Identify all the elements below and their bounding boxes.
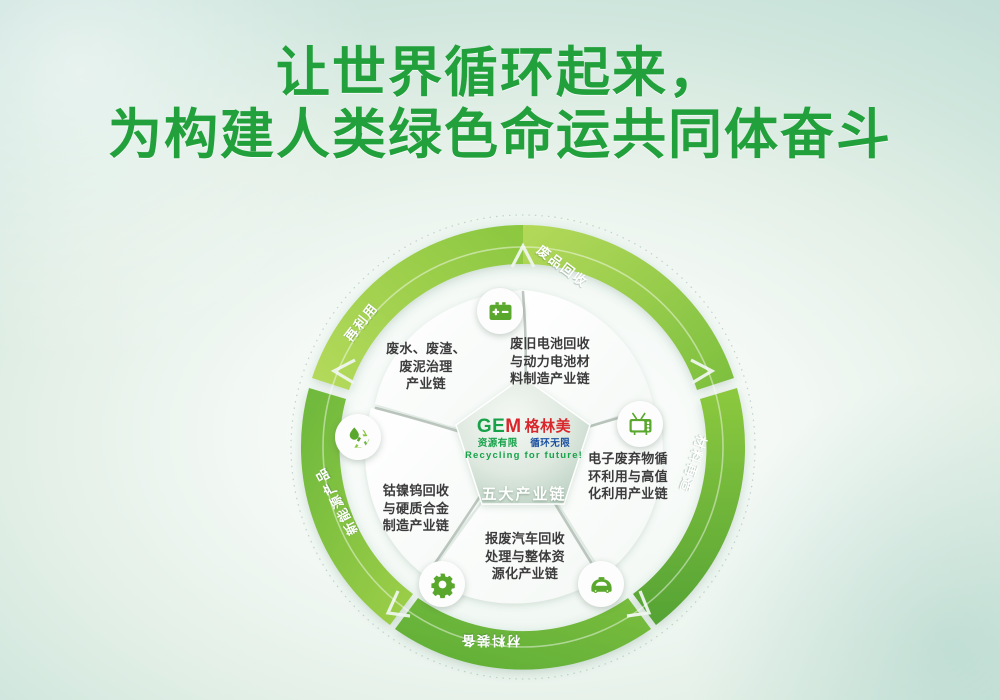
gear-icon-bubble	[419, 561, 465, 607]
logo-slogan-left: 资源有限	[478, 438, 518, 449]
gem-center-logo: GEM 格林美 资源有限 循环无限 Recycling for future! …	[454, 417, 594, 504]
segment-label-vehicle: 报废汽车回收 处理与整体资 源化产业链	[470, 530, 580, 583]
title-line-1: 让世界循环起来，	[0, 42, 1000, 104]
logo-slogan: 资源有限 循环无限	[454, 438, 594, 449]
water-recycle-icon-bubble	[335, 414, 381, 460]
logo-wordmark-row: GEM 格林美	[454, 417, 594, 436]
segment-label-waste-water: 废水、废渣、 废泥治理 产业链	[376, 340, 476, 393]
battery-icon	[487, 298, 514, 325]
title-line-2: 为构建人类绿色命运共同体奋斗	[0, 104, 1000, 166]
logo-slogan-right: 循环无限	[530, 438, 570, 449]
logo-chinese-name: 格林美	[525, 419, 572, 435]
car-icon	[588, 571, 615, 598]
segment-label-hard-alloy: 钴镍钨回收 与硬质合金 制造产业链	[366, 482, 466, 535]
tv-icon	[627, 411, 654, 438]
gear-icon	[429, 571, 456, 598]
car-icon-bubble	[578, 561, 624, 607]
water-recycle-icon	[345, 424, 372, 451]
tv-icon-bubble	[617, 401, 663, 447]
page-title: 让世界循环起来， 为构建人类绿色命运共同体奋斗	[0, 42, 1000, 166]
circular-industry-chain-diagram: 废品回收 材料再造 材料装备 新能源产品 再利用 废旧电池回收 与动力电池材 料…	[288, 212, 758, 682]
segment-label-battery: 废旧电池回收 与动力电池材 料制造产业链	[496, 335, 604, 388]
logo-slogan-english: Recycling for future!	[454, 450, 594, 461]
logo-gem-mark: GEM	[477, 417, 522, 436]
center-caption: 五大产业链	[454, 483, 594, 504]
battery-icon-bubble	[477, 288, 523, 334]
